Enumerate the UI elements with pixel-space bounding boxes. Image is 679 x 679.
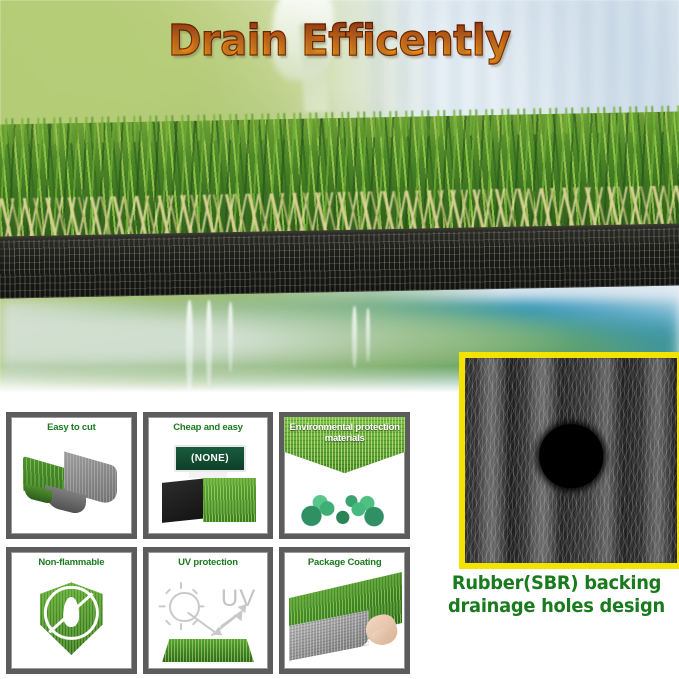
feature-cell-package-coating[interactable]: Package Coating <box>279 547 410 674</box>
sign-text: (NONE) <box>191 453 229 464</box>
feature-cell-cheap-and-easy[interactable]: (NONE) Cheap and easy <box>143 412 274 539</box>
rubber-ridge <box>478 358 508 563</box>
rolled-turf-icon <box>11 417 132 534</box>
feature-label: Cheap and easy <box>148 422 269 433</box>
caption-line-2: drainage holes design <box>441 595 671 618</box>
rubber-panel-caption: Rubber(SBR) backing drainage holes desig… <box>441 572 671 618</box>
feature-label: Package Coating <box>284 557 405 568</box>
feature-label: Easy to cut <box>11 422 132 433</box>
feature-cell-environmental-protection[interactable]: Environmental protection materials <box>279 412 410 539</box>
hand-lifting-turf-icon <box>284 552 405 669</box>
feature-label: Environmental protection materials <box>284 422 405 444</box>
feature-grid: Easy to cut (NONE) Cheap and easy Enviro… <box>6 412 410 674</box>
turf-backing-weave <box>0 227 679 299</box>
rubber-backing-panel[interactable] <box>459 352 679 569</box>
water-drip <box>228 302 233 372</box>
feature-cell-uv-protection[interactable]: UV UV protection <box>143 547 274 674</box>
feature-cell-easy-to-cut[interactable]: Easy to cut <box>6 412 137 539</box>
product-feature-image: Drain Efficently Easy to cut (NONE) Chea… <box>0 0 679 679</box>
caption-line-1: Rubber(SBR) backing <box>441 572 671 595</box>
feature-cell-non-flammable[interactable]: Non-flammable <box>6 547 137 674</box>
drainage-hole <box>539 425 603 489</box>
shield-no-flame-icon <box>11 552 132 669</box>
water-drip <box>366 308 370 362</box>
hero-photo: Drain Efficently <box>0 0 679 399</box>
feature-label: UV protection <box>148 557 269 568</box>
rubber-ridge <box>643 358 673 563</box>
feature-label: Non-flammable <box>11 557 132 568</box>
water-drip <box>352 306 357 368</box>
sun-uv-arrows-icon: UV <box>148 552 269 669</box>
turf-cross-section <box>0 111 679 300</box>
price-sign-icon: (NONE) <box>148 417 269 534</box>
page-title: Drain Efficently <box>24 16 655 66</box>
